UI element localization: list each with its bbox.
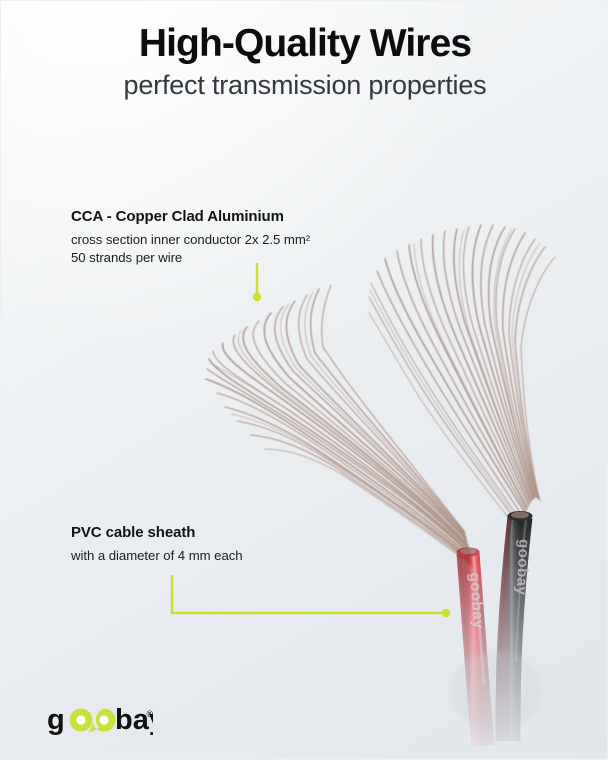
infographic-page: High-Quality Wires perfect transmission … [0, 0, 608, 760]
leader-line-pvc [172, 575, 450, 617]
annotation-pvc-title: PVC cable sheath [71, 524, 243, 541]
cable-group: goobay goobay [457, 511, 533, 746]
annotation-pvc: PVC cable sheath with a diameter of 4 mm… [71, 524, 243, 565]
annotation-cca: CCA - Copper Clad Aluminium cross sectio… [71, 208, 310, 267]
black-cable-print: goobay [513, 539, 533, 596]
annotation-cca-line-1: cross section inner conductor 2x 2.5 mm² [71, 231, 310, 249]
goobay-logo: g bay ® [47, 704, 153, 738]
leader-line-cca [253, 263, 261, 301]
red-cable-print: goobay [466, 572, 487, 630]
annotation-pvc-line-1: with a diameter of 4 mm each [71, 547, 243, 565]
black-cable: goobay [499, 511, 533, 741]
strand-bundle-right [369, 225, 555, 529]
header: High-Quality Wires perfect transmission … [1, 23, 608, 101]
copper-strand-fan [206, 225, 555, 567]
annotation-cca-line-2: 50 strands per wire [71, 249, 310, 267]
page-subtitle: perfect transmission properties [1, 70, 608, 101]
annotation-cca-title: CCA - Copper Clad Aluminium [71, 208, 310, 225]
red-cable: goobay [457, 547, 487, 746]
logo-text-g: g [47, 704, 65, 736]
page-title: High-Quality Wires [1, 23, 608, 64]
product-illustration: goobay goobay [1, 1, 608, 760]
strand-bundle-left [206, 285, 473, 567]
logo-registered-mark: ® [147, 709, 154, 719]
